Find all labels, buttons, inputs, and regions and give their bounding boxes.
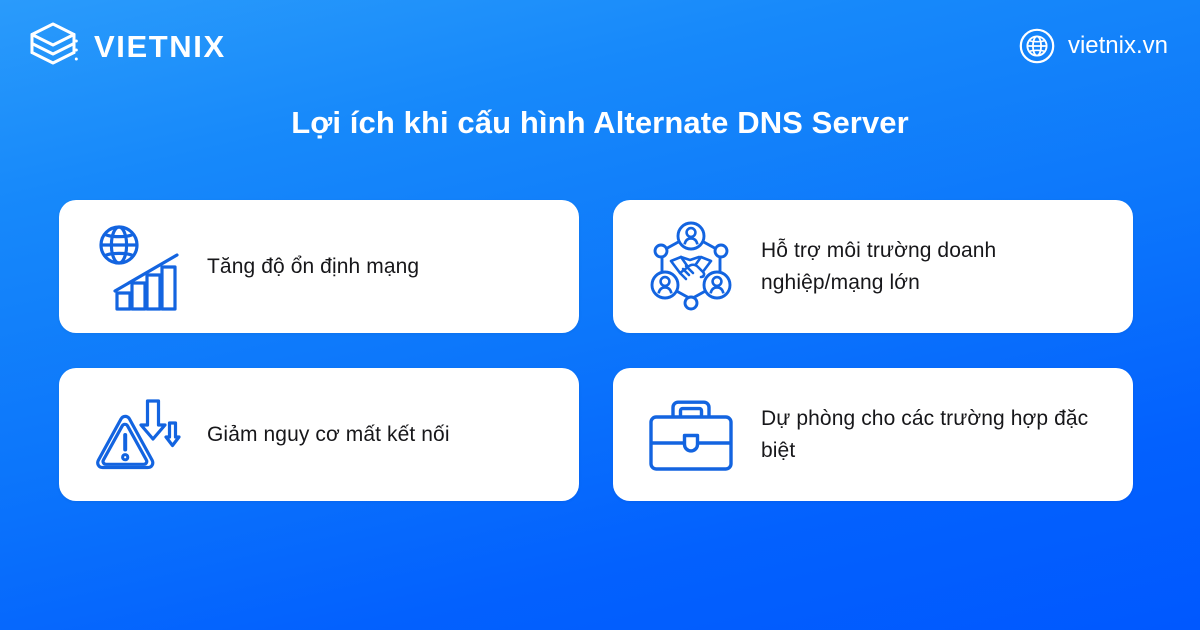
globe-growth-chart-icon: [89, 219, 185, 315]
benefit-card[interactable]: Dự phòng cho các trường hợp đặc biệt: [613, 368, 1133, 501]
benefit-card[interactable]: Tăng độ ổn định mạng: [59, 200, 579, 333]
site-url-text: vietnix.vn: [1068, 34, 1168, 58]
brand-name: VIETNIX: [94, 31, 226, 62]
benefit-card[interactable]: Giảm nguy cơ mất kết nối: [59, 368, 579, 501]
benefit-card-label: Giảm nguy cơ mất kết nối: [207, 419, 450, 450]
network-handshake-icon: [643, 219, 739, 315]
stacked-layers-logo-icon: [26, 19, 80, 73]
brand-logo[interactable]: VIETNIX: [26, 19, 226, 73]
page-title: Lợi ích khi cấu hình Alternate DNS Serve…: [0, 103, 1200, 143]
warning-triangle-down-arrows-icon: [89, 387, 185, 483]
benefit-card-label: Dự phòng cho các trường hợp đặc biệt: [761, 403, 1111, 465]
site-url-block[interactable]: vietnix.vn: [1019, 28, 1168, 64]
benefit-card[interactable]: Hỗ trợ môi trường doanh nghiệp/mạng lớn: [613, 200, 1133, 333]
page-header: VIETNIX vietnix.vn: [0, 0, 1200, 92]
benefits-grid: Tăng độ ổn định mạng: [59, 200, 1141, 501]
benefit-card-label: Tăng độ ổn định mạng: [207, 251, 419, 282]
benefit-card-label: Hỗ trợ môi trường doanh nghiệp/mạng lớn: [761, 235, 1111, 297]
briefcase-icon: [643, 387, 739, 483]
globe-icon: [1019, 28, 1055, 64]
